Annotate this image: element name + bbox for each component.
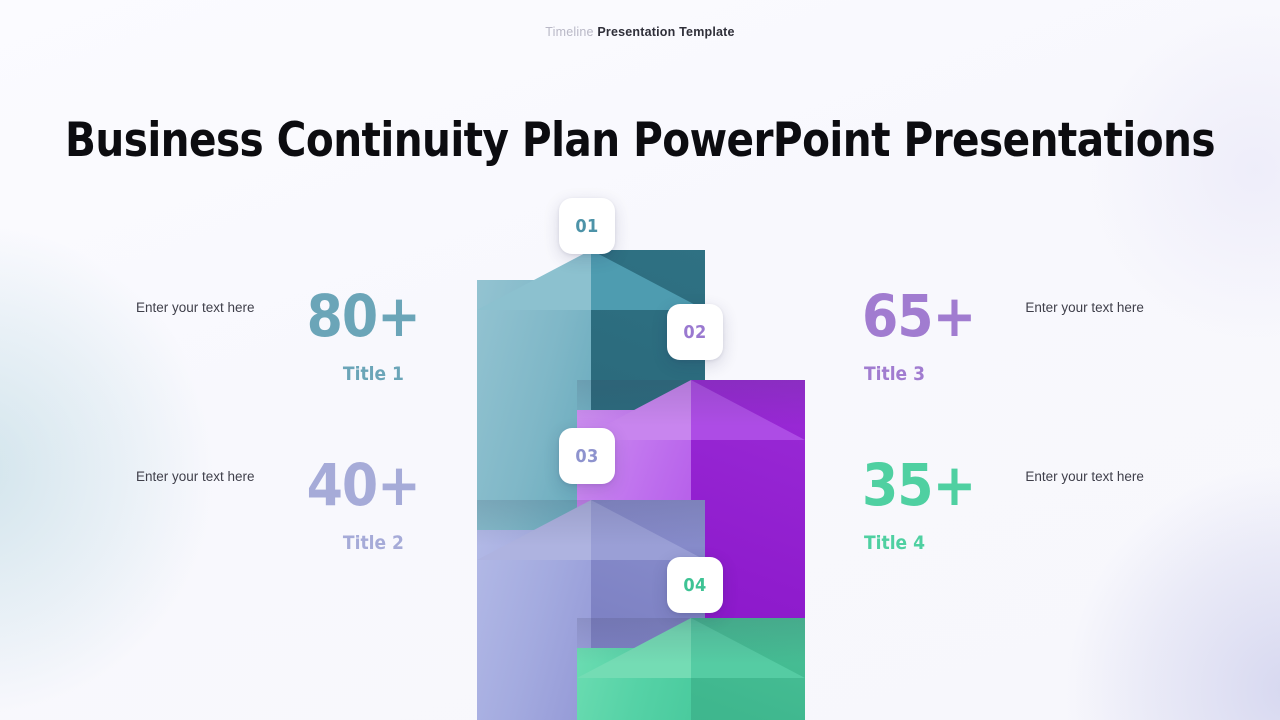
stat-block-title-4: 35+ Title 4 Enter your text here [862, 457, 1144, 555]
bar-top-facet-right [591, 470, 705, 560]
step-badge-04[interactable]: 04 [667, 557, 723, 613]
slide-canvas: Timeline Presentation Template Business … [0, 0, 1280, 720]
stat-figures: 40+ Title 2 [307, 457, 420, 555]
stat-block-title-3: 65+ Title 3 Enter your text here [862, 288, 1144, 386]
step-badge-02[interactable]: 02 [667, 304, 723, 360]
stat-figures: 65+ Title 3 [862, 288, 975, 386]
stat-title: Title 3 [864, 362, 925, 386]
stat-block-title-1: Enter your text here 80+ Title 1 [136, 288, 420, 386]
stat-value: 65+ [862, 288, 975, 344]
stat-title: Title 4 [864, 531, 925, 555]
stat-note: Enter your text here [1025, 457, 1144, 484]
stat-title: Title 1 [343, 362, 404, 386]
eyebrow-kicker: Timeline [545, 25, 593, 39]
bar-top-facet-right [691, 350, 805, 440]
isometric-bar-chart: 01 02 03 04 [455, 180, 825, 720]
stat-figures: 80+ Title 1 [307, 288, 420, 386]
slide-eyebrow: Timeline Presentation Template [0, 25, 1280, 39]
stat-value: 35+ [862, 457, 975, 513]
stat-value: 80+ [307, 288, 420, 344]
stat-figures: 35+ Title 4 [862, 457, 975, 555]
eyebrow-label: Presentation Template [597, 25, 734, 39]
stat-note: Enter your text here [1025, 288, 1144, 315]
step-badge-01[interactable]: 01 [559, 198, 615, 254]
stat-note: Enter your text here [136, 288, 255, 315]
stat-block-title-2: Enter your text here 40+ Title 2 [136, 457, 420, 555]
stat-value: 40+ [307, 457, 420, 513]
bar-top-facet-left [577, 350, 691, 440]
stat-note: Enter your text here [136, 457, 255, 484]
page-title: Business Continuity Plan PowerPoint Pres… [26, 110, 1255, 172]
step-badge-03[interactable]: 03 [559, 428, 615, 484]
stat-title: Title 2 [343, 531, 404, 555]
